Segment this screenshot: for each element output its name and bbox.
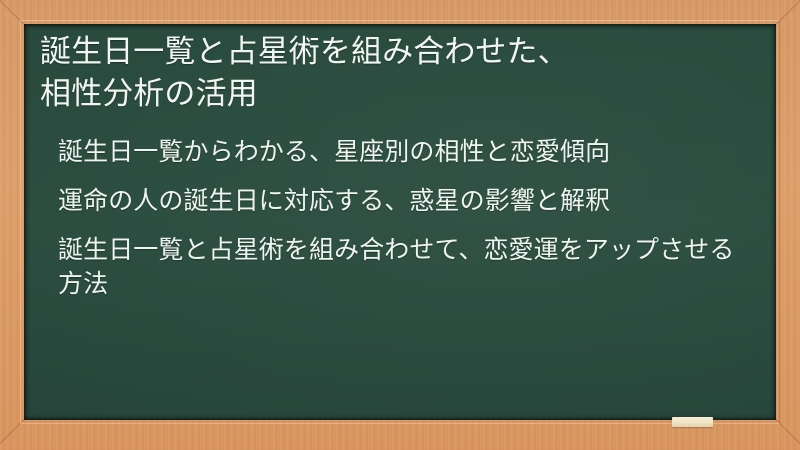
slide-outline-list: 誕生日一覧からわかる、星座別の相性と恋愛傾向 運命の人の誕生日に対応する、惑星の…: [38, 135, 758, 301]
list-item: 誕生日一覧と占星術を組み合わせて、恋愛運をアップさせる方法: [58, 233, 758, 301]
list-item: 誕生日一覧からわかる、星座別の相性と恋愛傾向: [58, 135, 758, 169]
chalk-stick-icon: [672, 417, 713, 427]
blackboard-frame: 誕生日一覧と占星術を組み合わせた、 相性分析の活用 誕生日一覧からわかる、星座別…: [0, 0, 800, 450]
slide-content: 誕生日一覧と占星術を組み合わせた、 相性分析の活用 誕生日一覧からわかる、星座別…: [24, 24, 776, 420]
chalkboard-surface: 誕生日一覧と占星術を組み合わせた、 相性分析の活用 誕生日一覧からわかる、星座別…: [24, 24, 776, 420]
list-item: 運命の人の誕生日に対応する、惑星の影響と解釈: [58, 184, 758, 218]
page-title: 誕生日一覧と占星術を組み合わせた、 相性分析の活用: [38, 31, 758, 115]
